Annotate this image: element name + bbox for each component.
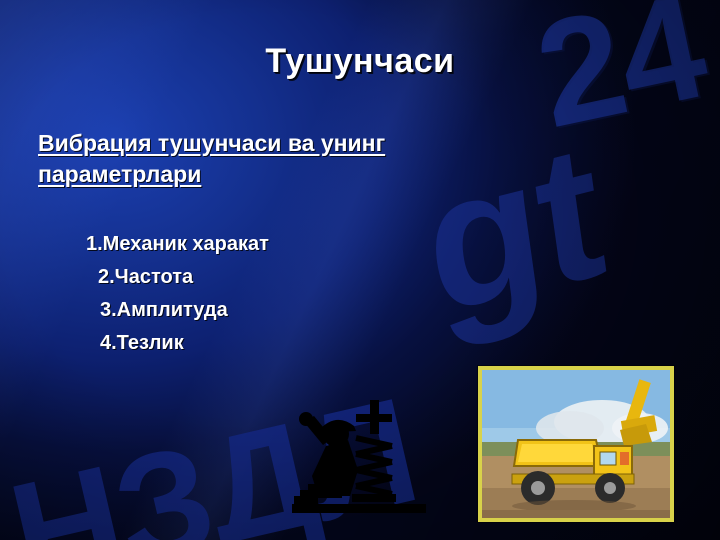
slide-title: Тушунчаси	[0, 42, 720, 81]
worker-spring-icon	[286, 386, 446, 516]
list-item: 3.Амплитуда	[100, 300, 269, 320]
list-item: 1.Механик харакат	[86, 234, 269, 254]
dump-truck-image	[482, 370, 670, 518]
slide-subtitle: Вибрация тушунчаси ва унинг параметрлари	[38, 128, 598, 190]
parameter-list: 1.Механик харакат 2.Частота 3.Амплитуда …	[86, 234, 269, 353]
list-item: 4.Тезлик	[100, 333, 269, 353]
truck-photo	[478, 366, 674, 522]
subtitle-line-2: параметрлари	[38, 161, 201, 187]
presentation-slide: 24 gt НЗДЛ Тушунчаси Вибрация тушунчаси …	[0, 0, 720, 540]
list-item: 2.Частота	[98, 267, 269, 287]
worker-spring-clipart	[286, 386, 446, 516]
subtitle-line-1: Вибрация тушунчаси ва унинг	[38, 130, 385, 156]
